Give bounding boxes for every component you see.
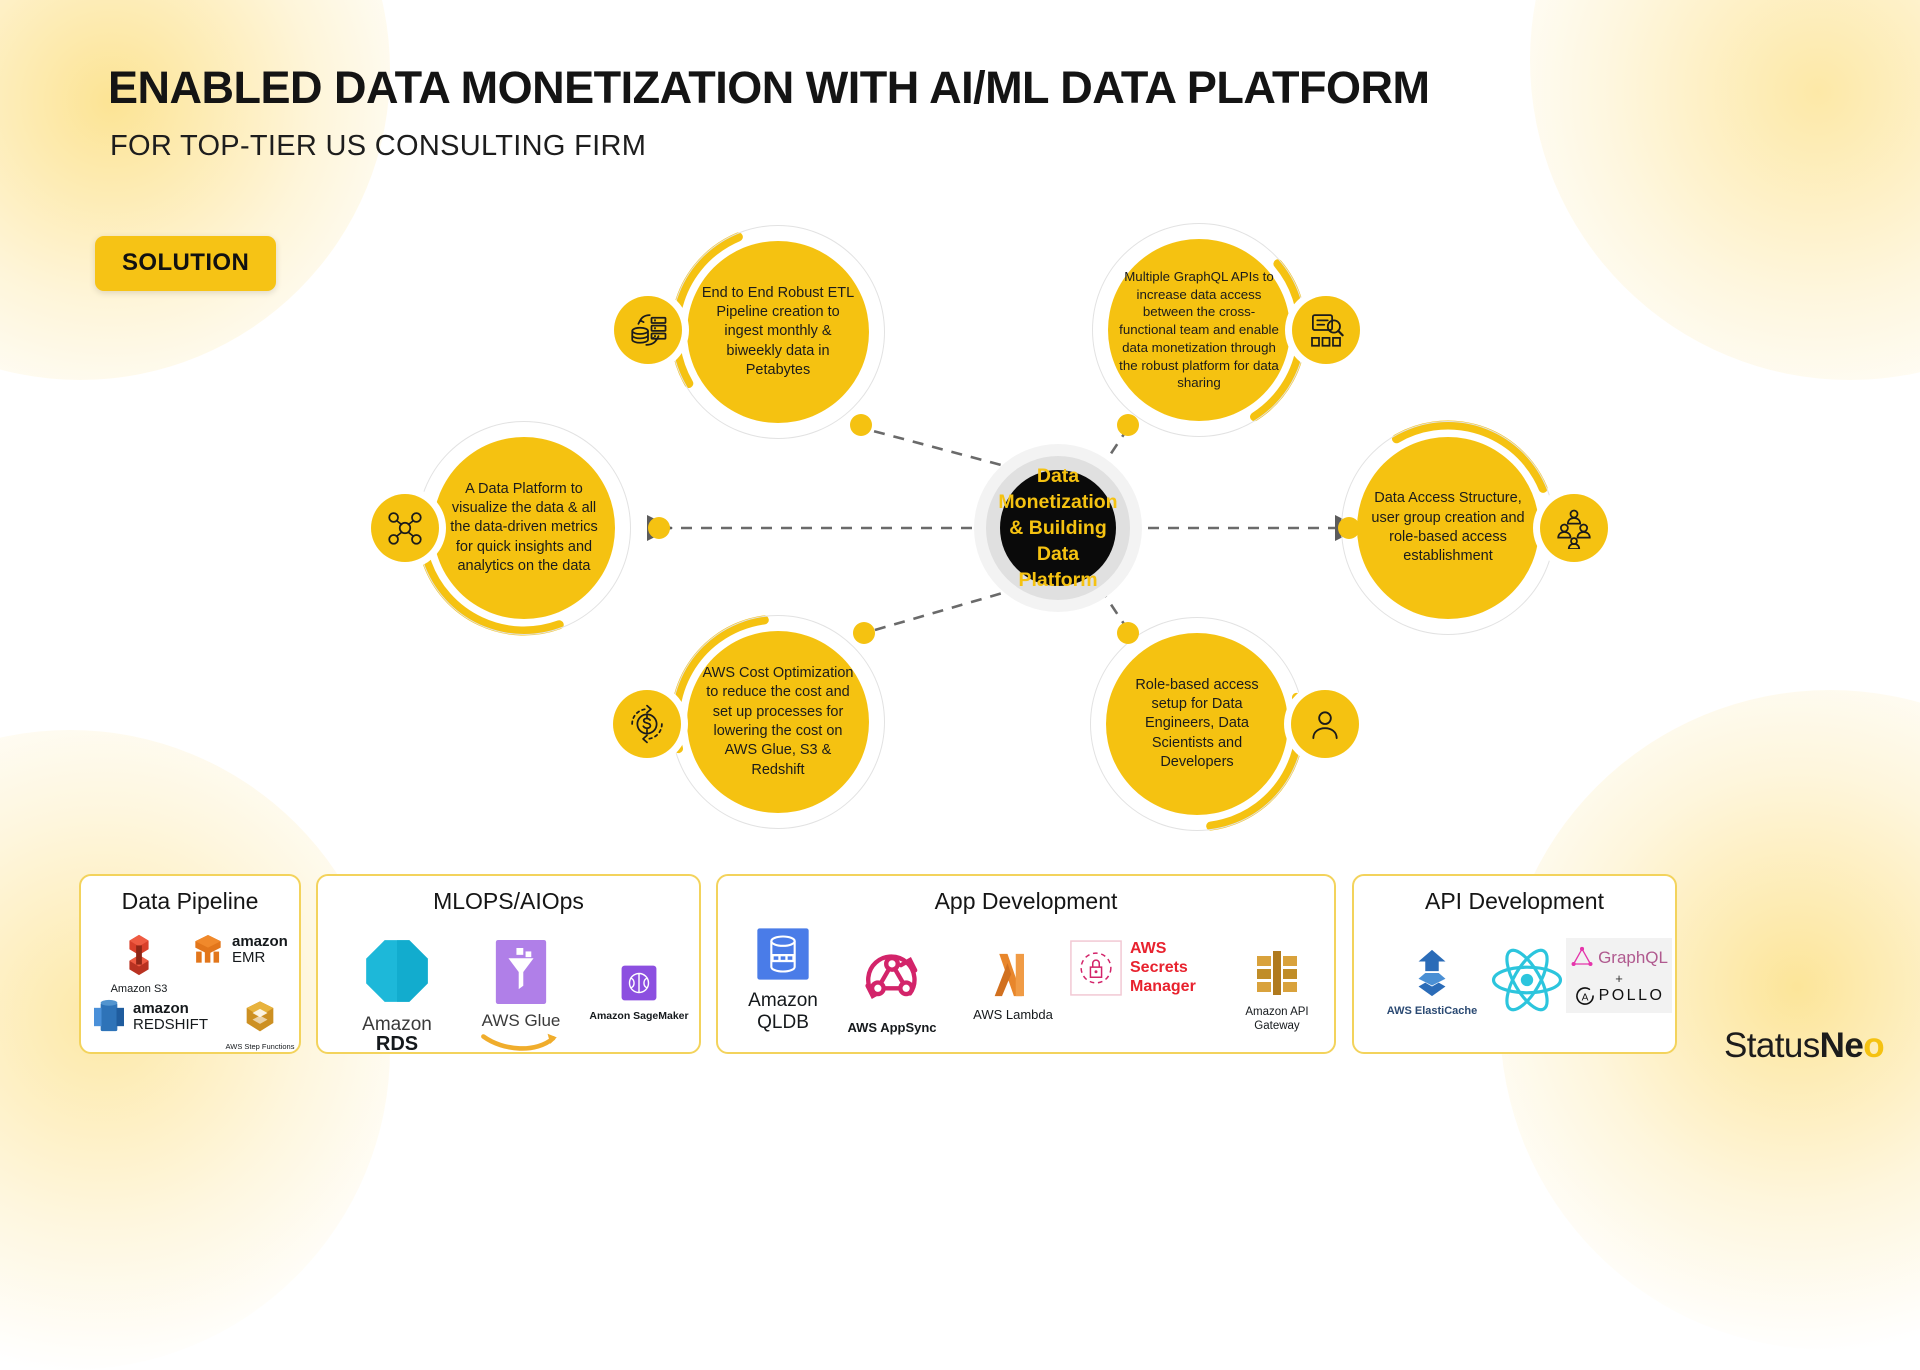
panel-data-pipeline-body: Amazon S3 amazon EMR xyxy=(81,924,299,1046)
data-sharing-icon xyxy=(1292,296,1360,364)
logo-aws-appsync-caption: AWS AppSync xyxy=(838,1021,946,1036)
amazon-smile-icon xyxy=(478,1031,564,1053)
logo-amazon-s3-caption: Amazon S3 xyxy=(97,983,181,996)
connector-dot-right xyxy=(1338,517,1360,539)
node-etl-pipeline[interactable]: End to End Robust ETL Pipeline creation … xyxy=(687,241,869,423)
connector-dot-bottom-left xyxy=(853,622,875,644)
aws-secrets-manager-icon xyxy=(1070,940,1122,996)
database-sync-icon xyxy=(614,296,682,364)
logo-aws-secrets-manager: AWSSecretsManager xyxy=(1070,940,1220,997)
logo-aws-step-functions-caption: AWS Step Functions xyxy=(223,1043,297,1052)
logo-amazon-s3: Amazon S3 xyxy=(97,932,181,996)
amazon-s3-icon xyxy=(116,932,162,978)
logo-amazon-api-gateway-caption: Amazon API Gateway xyxy=(1228,1006,1326,1034)
amazon-rds-icon xyxy=(357,934,437,1008)
panel-data-pipeline[interactable]: Data Pipeline Amazon S3 xyxy=(79,874,301,1054)
logo-amazon-sagemaker: Amazon SageMaker xyxy=(588,964,690,1022)
logo-aws-step-functions: AWS Step Functions xyxy=(223,998,297,1052)
aws-appsync-icon xyxy=(855,942,929,1014)
node-data-platform-visualize[interactable]: A Data Platform to visualize the data & … xyxy=(433,437,615,619)
cost-cycle-icon xyxy=(613,690,681,758)
panel-data-pipeline-title: Data Pipeline xyxy=(81,888,299,915)
connector-dot-top-left xyxy=(850,414,872,436)
logo-amazon-sagemaker-caption: Amazon SageMaker xyxy=(588,1010,690,1022)
node-role-based-access[interactable]: Role-based access setup for Data Enginee… xyxy=(1106,633,1288,815)
logo-aws-glue: AWS Glue xyxy=(466,940,576,1053)
slide-canvas: ENABLED DATA MONETIZATION WITH AI/ML DAT… xyxy=(0,0,1920,1080)
graphql-icon xyxy=(1570,944,1594,972)
node-aws-cost-optimization-label: AWS Cost Optimization to reduce the cost… xyxy=(697,664,859,780)
logo-amazon-emr: amazon EMR xyxy=(189,930,293,970)
react-icon xyxy=(1490,946,1564,1014)
logo-amazon-rds: Amazon RDS xyxy=(342,934,452,1054)
amazon-sagemaker-icon xyxy=(620,964,658,1002)
node-data-access-structure[interactable]: Data Access Structure, user group creati… xyxy=(1357,437,1539,619)
statusneo-logo: StatusNeo xyxy=(1724,1026,1884,1066)
logo-react xyxy=(1486,946,1568,1019)
panel-api-development-body: AWS ElastiCache xyxy=(1354,924,1675,1046)
logo-amazon-api-gateway: Amazon API Gateway xyxy=(1228,948,1326,1034)
aws-elasticache-icon xyxy=(1408,948,1456,998)
connector-dot-left xyxy=(648,517,670,539)
center-hub-label: Data Monetization & Building Data Platfo… xyxy=(998,463,1117,594)
node-data-access-structure-label: Data Access Structure, user group creati… xyxy=(1367,489,1529,566)
brand-bold: Ne xyxy=(1820,1026,1864,1065)
brand-dot: o xyxy=(1863,1026,1884,1065)
svg-text:A: A xyxy=(1581,992,1588,1003)
hub-line-1: Data Monetization xyxy=(998,465,1117,513)
logo-aws-lambda: AWS Lambda xyxy=(958,950,1068,1023)
panel-api-development-title: API Development xyxy=(1354,888,1675,915)
logo-aws-lambda-caption: AWS Lambda xyxy=(958,1008,1068,1023)
logo-amazon-redshift: amazon REDSHIFT xyxy=(89,996,219,1038)
logo-graphql-apollo: GraphQL + A POLLO xyxy=(1566,938,1672,1013)
panel-mlops-aiops-title: MLOPS/AIOps xyxy=(318,888,699,915)
amazon-emr-icon xyxy=(189,930,227,970)
node-etl-pipeline-label: End to End Robust ETL Pipeline creation … xyxy=(697,284,859,380)
brand-light: Status xyxy=(1724,1026,1820,1065)
user-profile-icon xyxy=(1291,690,1359,758)
amazon-redshift-icon xyxy=(89,996,129,1038)
node-role-based-access-label: Role-based access setup for Data Enginee… xyxy=(1116,676,1278,772)
logo-aws-appsync: AWS AppSync xyxy=(838,942,946,1036)
amazon-api-gateway-icon xyxy=(1253,948,1301,998)
logo-aws-elasticache-caption: AWS ElastiCache xyxy=(1384,1005,1480,1018)
connector-dot-bottom-right xyxy=(1117,622,1139,644)
aws-glue-icon xyxy=(492,940,550,1004)
apollo-icon: A xyxy=(1574,985,1596,1007)
node-data-platform-visualize-label: A Data Platform to visualize the data & … xyxy=(443,480,605,576)
panel-app-development[interactable]: App Development Ama xyxy=(716,874,1336,1054)
panel-api-development[interactable]: API Development AWS ElastiCache xyxy=(1352,874,1677,1054)
aws-step-functions-icon xyxy=(240,998,280,1038)
panel-app-development-title: App Development xyxy=(718,888,1334,915)
connector-dot-top-right xyxy=(1117,414,1139,436)
aws-lambda-icon xyxy=(991,950,1035,1000)
user-hierarchy-icon xyxy=(1540,494,1608,562)
center-hub[interactable]: Data Monetization & Building Data Platfo… xyxy=(1000,470,1116,586)
node-aws-cost-optimization[interactable]: AWS Cost Optimization to reduce the cost… xyxy=(687,631,869,813)
logo-aws-elasticache: AWS ElastiCache xyxy=(1384,948,1480,1018)
panel-mlops-aiops-body: Amazon RDS AWS Glue xyxy=(318,924,699,1046)
panel-mlops-aiops[interactable]: MLOPS/AIOps Amazon RDS A xyxy=(316,874,701,1054)
network-nodes-icon xyxy=(371,494,439,562)
hub-line-3: Platform xyxy=(1018,569,1097,591)
amazon-qldb-icon xyxy=(755,926,811,982)
logo-amazon-qldb: Amazon QLDB xyxy=(728,926,838,1034)
node-graphql-apis-label: Multiple GraphQL APIs to increase data a… xyxy=(1118,268,1280,392)
panel-app-development-body: Amazon QLDB AWS AppSync xyxy=(718,924,1334,1046)
hub-line-2: & Building Data xyxy=(1009,517,1106,565)
node-graphql-apis[interactable]: Multiple GraphQL APIs to increase data a… xyxy=(1108,239,1290,421)
